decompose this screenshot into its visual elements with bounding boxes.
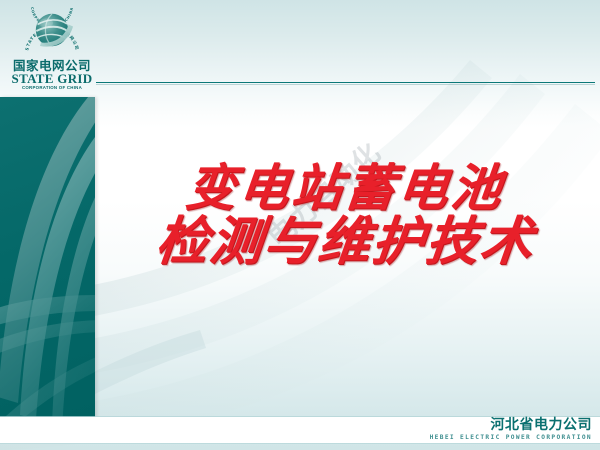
title-line-1: 变电站蓄电池 — [97, 160, 593, 216]
footer-bottom-edge — [0, 443, 600, 444]
teal-sidebar-panel — [0, 97, 95, 440]
title-line-2: 检测与维护技术 — [97, 214, 593, 270]
header-divider-line — [96, 82, 595, 83]
footer-org-en: HEBEI ELECTRIC POWER CORPORATION — [430, 433, 592, 442]
state-grid-logo: STATE GRID 国家电网公司 CORPORATION OF CHINA — [6, 2, 98, 91]
slide-title: 变电站蓄电池 检测与维护技术 — [100, 160, 590, 270]
slide-header: STATE GRID 国家电网公司 CORPORATION OF CHINA — [0, 0, 600, 97]
header-divider-shadow — [96, 84, 595, 85]
state-grid-globe-emblem: STATE GRID 国家电网公司 CORPORATION OF CHINA — [21, 2, 83, 58]
footer-organization: 河北省电力公司 HEBEI ELECTRIC POWER CORPORATION — [430, 418, 592, 442]
sidebar-globe-arcs — [0, 97, 95, 440]
footer-org-cn: 河北省电力公司 — [430, 418, 592, 433]
logo-company-en: STATE GRID — [6, 72, 98, 85]
presentation-slide: STATE GRID 国家电网公司 CORPORATION OF CHINA — [0, 0, 600, 450]
